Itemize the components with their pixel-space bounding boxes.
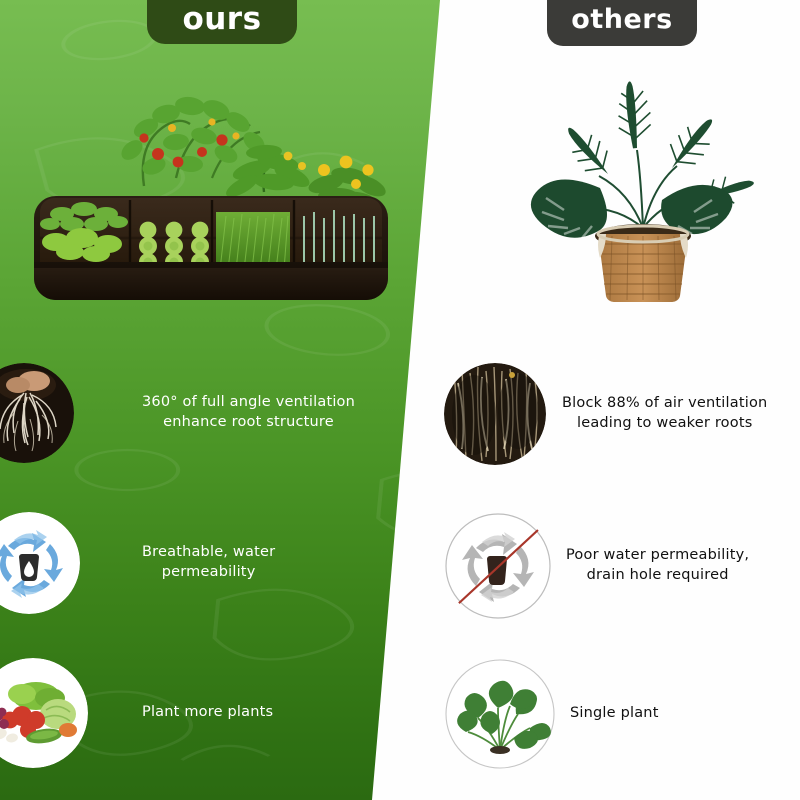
ours-row-ventilation-text: 360° of full angle ventilation enhance r… <box>142 393 355 432</box>
ours-row-ventilation: 360° of full angle ventilation enhance r… <box>0 363 355 463</box>
vegetables-basket-icon <box>0 658 88 768</box>
ours-row-capacity: Plant more plants <box>0 658 273 768</box>
ours-row-capacity-text: Plant more plants <box>142 703 273 723</box>
potted-palm-image <box>512 48 774 310</box>
blocked-airflow-icon <box>444 512 552 620</box>
root-structure-healthy-icon <box>0 363 74 463</box>
badge-ours: ours <box>147 0 297 44</box>
ours-row-permeability-text: Breathable, water permeability <box>142 543 275 582</box>
others-row-capacity: Single plant <box>444 658 659 770</box>
others-row-permeability: Poor water permeability, drain hole requ… <box>444 512 749 620</box>
single-plant-icon <box>444 658 556 770</box>
ours-row-permeability: Breathable, water permeability <box>0 512 275 614</box>
others-row-capacity-text: Single plant <box>570 704 659 724</box>
badge-others: others <box>547 0 697 46</box>
breathable-airflow-icon <box>0 512 80 614</box>
root-structure-blocked-icon <box>444 363 546 465</box>
others-row-ventilation: Block 88% of air ventilation leading to … <box>444 363 767 465</box>
others-row-permeability-text: Poor water permeability, drain hole requ… <box>566 546 749 585</box>
others-row-ventilation-text: Block 88% of air ventilation leading to … <box>562 394 767 433</box>
comparison-infographic: ours others <box>0 0 800 800</box>
raised-garden-bed-image <box>26 66 396 306</box>
